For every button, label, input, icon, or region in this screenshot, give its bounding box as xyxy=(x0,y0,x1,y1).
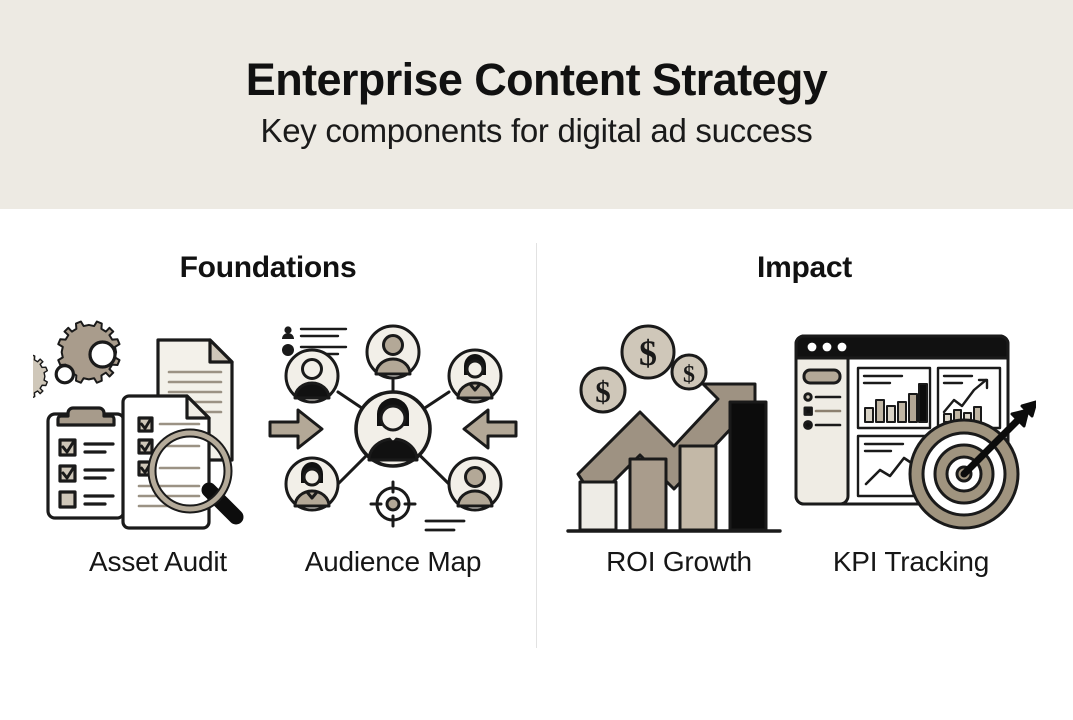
page-subtitle: Key components for digital ad success xyxy=(260,113,812,149)
avatar-node-left-bottom xyxy=(286,458,338,510)
avatar-node-right-top xyxy=(449,350,501,402)
svg-text:$: $ xyxy=(639,333,657,373)
audience-map-artwork xyxy=(268,314,518,544)
bar-chart-growth-arrow-coins-icon: $ $ $ xyxy=(554,314,804,544)
window-dot-2 xyxy=(823,343,832,352)
clipboard-documents-magnifier-gears-icon xyxy=(33,314,283,544)
infographic-page: Enterprise Content Strategy Key componen… xyxy=(0,0,1073,720)
avatar-node-left-top xyxy=(286,350,338,402)
avatar-node-right-bottom xyxy=(449,458,501,510)
content-area: Foundations Impact xyxy=(0,209,1073,720)
cards-row: Asset Audit xyxy=(0,314,1073,614)
bar-2 xyxy=(630,459,666,530)
card-asset-audit[interactable]: Asset Audit xyxy=(33,314,283,614)
dollar-coin-large-icon: $ xyxy=(622,326,674,378)
audience-network-icon xyxy=(268,314,518,544)
svg-text:$: $ xyxy=(683,362,695,388)
section-heading-foundations: Foundations xyxy=(0,251,536,285)
bar-3 xyxy=(680,446,716,530)
clipboard-checklist-icon xyxy=(48,408,124,518)
page-title: Enterprise Content Strategy xyxy=(246,56,827,103)
card-label-roi-growth: ROI Growth xyxy=(554,546,804,578)
asset-audit-artwork xyxy=(33,314,283,544)
arrow-left-icon xyxy=(270,410,322,448)
bottom-lines xyxy=(426,521,464,530)
header-band: Enterprise Content Strategy Key componen… xyxy=(0,0,1073,209)
card-roi-growth[interactable]: $ $ $ xyxy=(554,314,804,614)
center-avatar-node xyxy=(356,392,430,466)
dollar-coin-medium-icon: $ xyxy=(581,368,625,412)
card-audience-map[interactable]: Audience Map xyxy=(268,314,518,614)
dollar-coin-small-icon: $ xyxy=(672,355,706,389)
section-heading-impact: Impact xyxy=(536,251,1073,285)
window-dot-1 xyxy=(808,343,817,352)
window-dot-3 xyxy=(838,343,847,352)
bar-4 xyxy=(730,402,766,530)
svg-text:$: $ xyxy=(595,374,611,409)
roi-growth-artwork: $ $ $ xyxy=(554,314,804,544)
crosshair-target-icon xyxy=(371,482,415,526)
sidebar-search-pill xyxy=(804,370,840,383)
bar-1 xyxy=(580,482,616,530)
card-label-asset-audit: Asset Audit xyxy=(33,546,283,578)
bar-chart-widget xyxy=(858,368,930,428)
avatar-node-top xyxy=(367,326,419,378)
card-label-audience-map: Audience Map xyxy=(268,546,518,578)
dashboard-target-arrow-icon xyxy=(786,314,1036,544)
card-kpi-tracking[interactable]: KPI Tracking xyxy=(786,314,1036,614)
card-label-kpi-tracking: KPI Tracking xyxy=(786,546,1036,578)
kpi-tracking-artwork xyxy=(786,314,1036,544)
sidebar-panel xyxy=(796,358,848,504)
arrow-right-icon xyxy=(464,410,516,448)
